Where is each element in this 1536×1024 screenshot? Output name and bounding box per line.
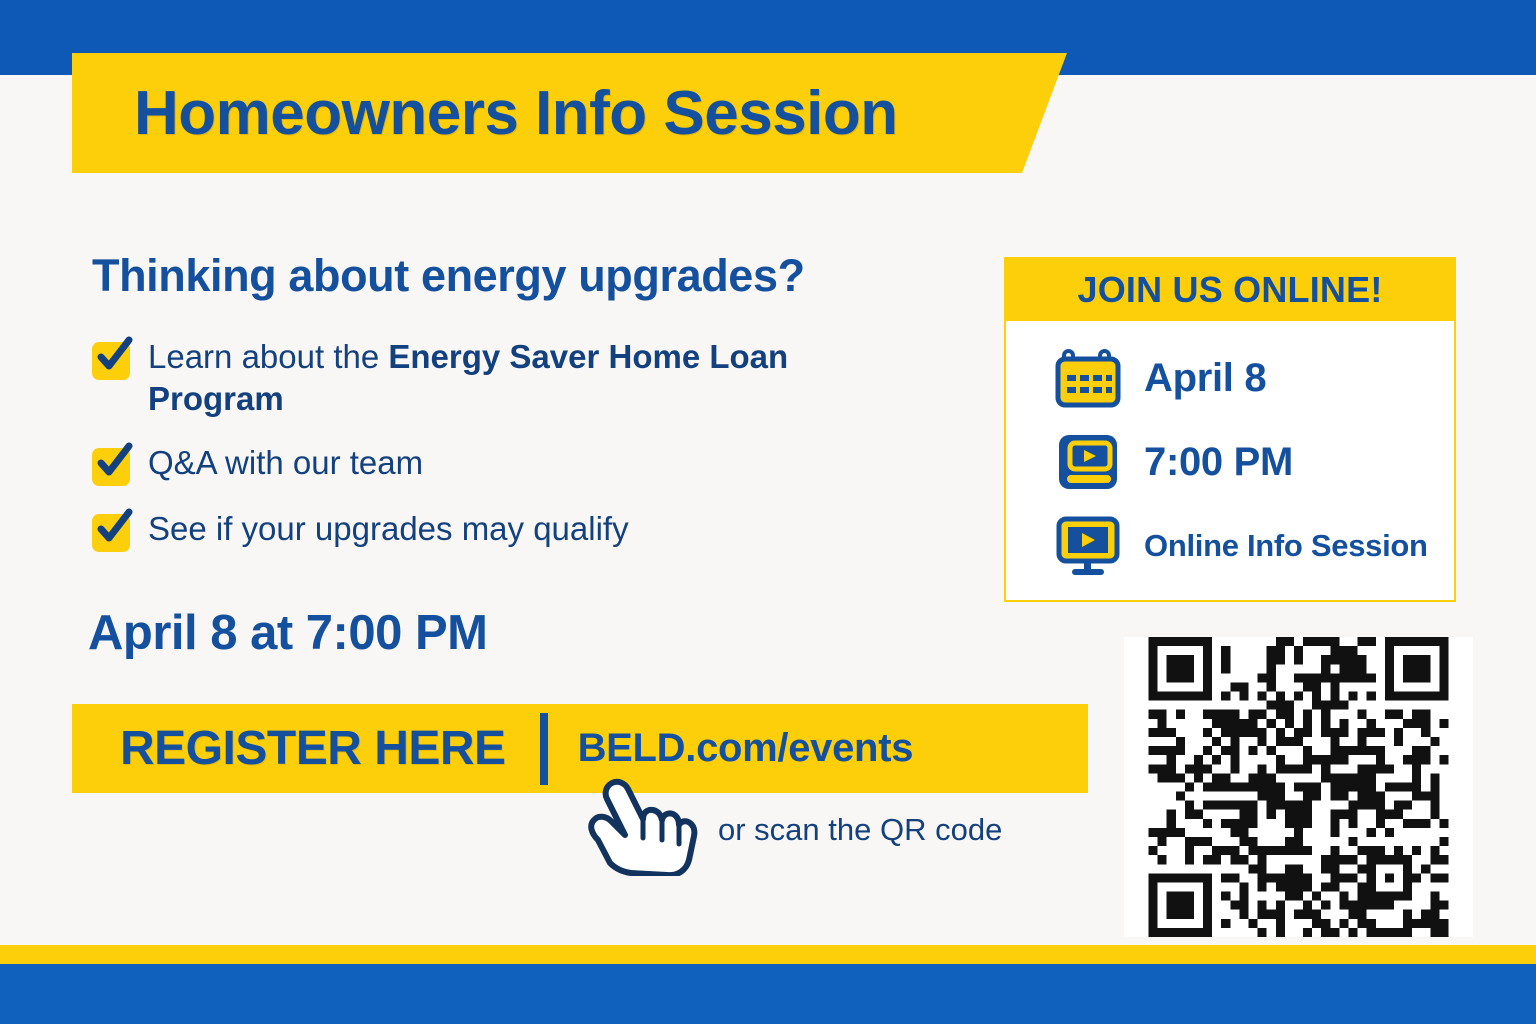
join-panel-rows: April 8 7:00 PM [1006, 321, 1454, 577]
register-url-label: BELD.com/events [578, 726, 914, 771]
event-datetime: April 8 at 7:00 PM [88, 605, 487, 661]
bottom-yellow-stripe [0, 945, 1536, 964]
page-title: Homeowners Info Session [134, 78, 898, 149]
scan-qr-note: or scan the QR code [718, 812, 1002, 848]
join-row-label: 7:00 PM [1144, 440, 1293, 485]
join-panel-header-label: JOIN US ONLINE! [1077, 269, 1382, 311]
headline: Thinking about energy upgrades? [92, 250, 992, 302]
list-item-label: See if your upgrades may qualify [148, 508, 629, 550]
checkbox-checked-icon [92, 514, 130, 552]
list-item-text-plain: Learn about the [148, 338, 388, 375]
qr-code-icon[interactable] [1124, 637, 1473, 937]
join-row-label: April 8 [1144, 356, 1266, 401]
list-item: See if your upgrades may qualify [92, 508, 992, 552]
video-monitor-icon [1054, 515, 1122, 577]
join-panel-header: JOIN US ONLINE! [1006, 259, 1454, 321]
list-item: Learn about the Energy Saver Home Loan P… [92, 336, 992, 420]
list-item: Online Info Session [1054, 515, 1454, 577]
join-us-online-panel: JOIN US ONLINE! [1004, 257, 1456, 602]
register-button-label: REGISTER HERE [120, 721, 506, 776]
list-item-label: Q&A with our team [148, 442, 423, 484]
benefits-list: Learn about the Energy Saver Home Loan P… [92, 336, 992, 552]
list-item: 7:00 PM [1054, 431, 1454, 493]
flyer-canvas: Homeowners Info Session Thinking about e… [0, 0, 1536, 1024]
checkbox-checked-icon [92, 448, 130, 486]
vertical-divider [540, 713, 548, 785]
checkbox-checked-icon [92, 342, 130, 380]
webinar-monitor-icon [1054, 431, 1122, 493]
pointing-hand-cursor-icon [585, 778, 700, 873]
list-item: Q&A with our team [92, 442, 992, 486]
left-content-column: Thinking about energy upgrades? Learn ab… [92, 250, 992, 574]
register-here-bar[interactable]: REGISTER HERE BELD.com/events [72, 704, 1088, 793]
list-item-label: Learn about the Energy Saver Home Loan P… [148, 336, 848, 420]
calendar-icon [1054, 347, 1122, 409]
bottom-blue-band [0, 964, 1536, 1024]
join-row-label: Online Info Session [1144, 528, 1428, 564]
title-banner: Homeowners Info Session [72, 53, 1067, 173]
list-item: April 8 [1054, 347, 1454, 409]
